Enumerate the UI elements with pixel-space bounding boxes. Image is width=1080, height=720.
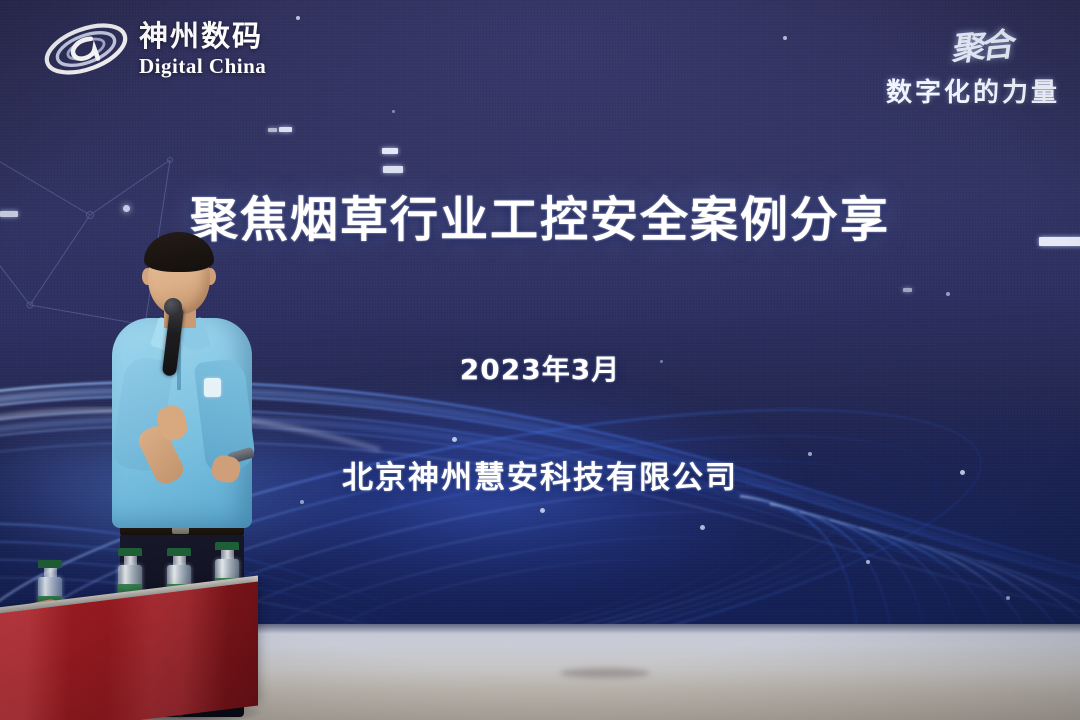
microphone-capsule-icon: [164, 298, 182, 316]
bottle-cap: [215, 542, 239, 550]
bottle-neck: [221, 550, 234, 559]
digital-china-spiral-icon: [42, 18, 130, 80]
conference-stage-photo: 聚焦烟草行业工控安全案例分享 2023年3月 北京神州慧安科技有限公司 神州数码…: [0, 0, 1080, 720]
bottle-cap: [118, 548, 142, 556]
event-logo: 聚合 数字化的力量: [886, 20, 1060, 109]
floor-scuff-mark: [560, 668, 650, 678]
event-logo-tagline: 数字化的力量: [886, 72, 1060, 109]
bottle-neck: [44, 568, 57, 577]
logo-name-en: Digital China: [139, 56, 266, 77]
digital-china-wordmark: 神州数码 Digital China: [139, 22, 266, 77]
presenter-shirt-logo: [204, 378, 221, 397]
bottle-cap: [167, 548, 191, 556]
bottle-neck: [124, 556, 137, 565]
bottle-cap: [38, 560, 62, 568]
logo-name-cn: 神州数码: [139, 22, 266, 51]
event-logo-calligraphy: 聚合: [950, 18, 1016, 71]
digital-china-logo: 神州数码 Digital China: [42, 18, 266, 80]
presenter-hair: [144, 232, 214, 272]
bottle-neck: [173, 556, 186, 565]
